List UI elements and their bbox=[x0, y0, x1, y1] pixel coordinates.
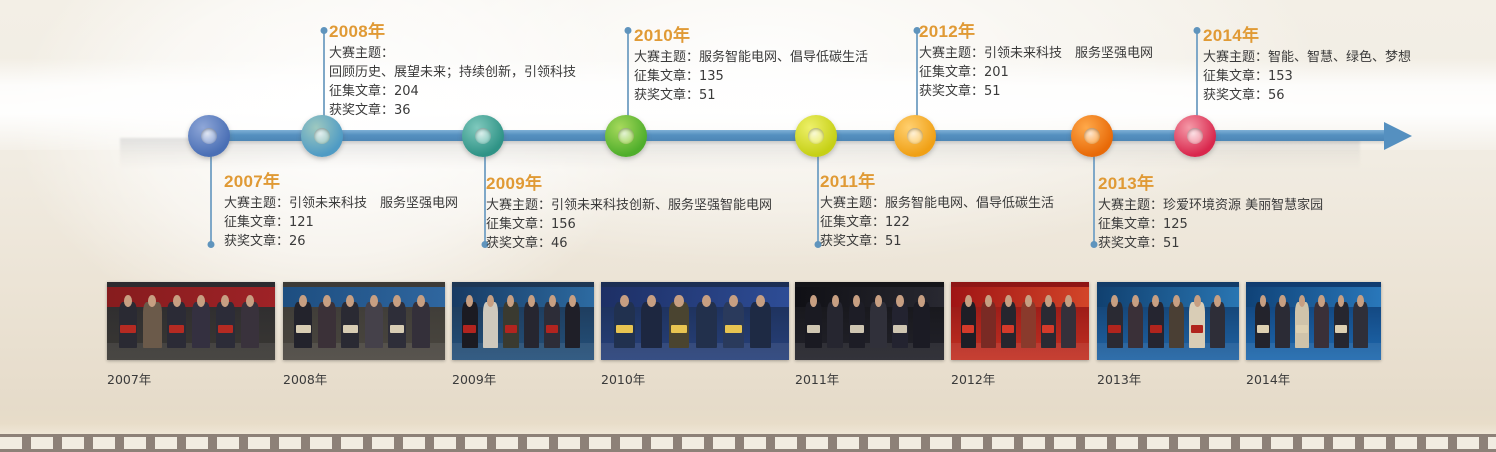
timeline-node-center bbox=[201, 128, 217, 144]
timeline-entry-2008: 2008年大赛主题：回顾历史、展望未来；持续创新，引领科技征集文章：204获奖文… bbox=[329, 22, 576, 120]
photo-caption: 2009年 bbox=[452, 369, 594, 388]
entry-awarded-count: 获奖文章：51 bbox=[1098, 234, 1323, 253]
photo-thumbnail[interactable] bbox=[107, 282, 275, 360]
entry-theme: 大赛主题：引领未来科技 服务坚强电网 bbox=[919, 44, 1153, 63]
entry-theme: 大赛主题：服务智能电网、倡导低碳生活 bbox=[820, 194, 1054, 213]
photo-thumbnail[interactable] bbox=[452, 282, 594, 360]
entry-submitted-count: 征集文章：135 bbox=[634, 67, 868, 86]
entry-theme: 回顾历史、展望未来；持续创新，引领科技 bbox=[329, 63, 576, 82]
photo-item[interactable]: 2013年 bbox=[1097, 282, 1239, 388]
photo-thumbnail[interactable] bbox=[601, 282, 789, 360]
photo-certificate bbox=[505, 325, 518, 334]
photo-certificate bbox=[218, 325, 233, 334]
photo-certificate bbox=[962, 325, 974, 334]
timeline-stem-dot bbox=[1091, 241, 1098, 248]
photo-item[interactable]: 2007年 bbox=[107, 282, 275, 388]
entry-theme: 大赛主题：服务智能电网、倡导低碳生活 bbox=[634, 48, 868, 67]
photo-person bbox=[192, 302, 210, 347]
photo-certificate bbox=[169, 325, 184, 334]
photo-person bbox=[241, 302, 259, 347]
timeline-node-2010[interactable] bbox=[605, 115, 647, 157]
photo-person bbox=[913, 302, 929, 347]
photo-person bbox=[1169, 302, 1185, 347]
photo-caption: 2013年 bbox=[1097, 369, 1239, 388]
photo-certificate bbox=[1296, 325, 1308, 334]
timeline-node-center bbox=[808, 128, 824, 144]
entry-submitted-count: 征集文章：153 bbox=[1203, 67, 1411, 86]
entry-submitted-count: 征集文章：122 bbox=[820, 213, 1054, 232]
photo-person bbox=[1275, 302, 1290, 347]
photo-certificate bbox=[616, 325, 633, 334]
photo-certificate bbox=[807, 325, 820, 334]
photo-caption: 2014年 bbox=[1246, 369, 1381, 388]
photo-person bbox=[1061, 302, 1076, 347]
entry-awarded-count: 获奖文章：56 bbox=[1203, 86, 1411, 105]
timeline-entry-2012: 2012年大赛主题：引领未来科技 服务坚强电网征集文章：201获奖文章：51 bbox=[919, 22, 1153, 101]
photo-person bbox=[412, 302, 430, 347]
entry-year: 2011年 bbox=[820, 172, 1054, 191]
entry-theme-prefix: 大赛主题： bbox=[329, 44, 576, 63]
photo-caption: 2011年 bbox=[795, 369, 944, 388]
filmstrip-holes bbox=[0, 437, 1496, 449]
entry-theme: 大赛主题：引领未来科技 服务坚强电网 bbox=[224, 194, 458, 213]
entry-submitted-count: 征集文章：156 bbox=[486, 215, 772, 234]
photo-certificate bbox=[296, 325, 311, 334]
timeline-node-2014[interactable] bbox=[1174, 115, 1216, 157]
entry-year: 2010年 bbox=[634, 26, 868, 45]
photo-caption: 2008年 bbox=[283, 369, 445, 388]
timeline-entry-2011: 2011年大赛主题：服务智能电网、倡导低碳生活征集文章：122获奖文章：51 bbox=[820, 172, 1054, 251]
photo-certificate bbox=[1108, 325, 1121, 334]
timeline-node-2012[interactable] bbox=[894, 115, 936, 157]
photo-person bbox=[143, 302, 161, 347]
photo-item[interactable]: 2014年 bbox=[1246, 282, 1381, 388]
photo-person bbox=[981, 302, 996, 347]
timeline-infographic: 2007年大赛主题：引领未来科技 服务坚强电网征集文章：121获奖文章：2620… bbox=[0, 0, 1496, 452]
timeline-stem-dot bbox=[208, 241, 215, 248]
timeline-arrow-icon bbox=[1384, 122, 1412, 150]
timeline-node-center bbox=[314, 128, 330, 144]
timeline-node-center bbox=[907, 128, 923, 144]
photo-person bbox=[870, 302, 886, 347]
photo-certificate bbox=[546, 325, 559, 334]
photo-certificate bbox=[1257, 325, 1269, 334]
entry-theme: 大赛主题：智能、智慧、绿色、梦想 bbox=[1203, 48, 1411, 67]
photo-gallery: 2007年2008年2009年2010年2011年2012年2013年2014年 bbox=[0, 282, 1496, 397]
photo-item[interactable]: 2010年 bbox=[601, 282, 789, 388]
photo-certificate bbox=[1150, 325, 1163, 334]
timeline-node-2008[interactable] bbox=[301, 115, 343, 157]
photo-person bbox=[483, 302, 499, 347]
photo-certificate bbox=[343, 325, 358, 334]
timeline-node-center bbox=[1084, 128, 1100, 144]
photo-person bbox=[750, 302, 771, 347]
entry-awarded-count: 获奖文章：36 bbox=[329, 101, 576, 120]
photo-person bbox=[1021, 302, 1036, 347]
photo-person bbox=[1128, 302, 1144, 347]
photo-caption: 2007年 bbox=[107, 369, 275, 388]
photo-certificate bbox=[1335, 325, 1347, 334]
photo-person bbox=[365, 302, 383, 347]
photo-thumbnail[interactable] bbox=[1246, 282, 1381, 360]
photo-certificate bbox=[463, 325, 476, 334]
timeline-stem-dot bbox=[625, 27, 632, 34]
photo-person bbox=[696, 302, 717, 347]
timeline-entry-2007: 2007年大赛主题：引领未来科技 服务坚强电网征集文章：121获奖文章：26 bbox=[224, 172, 458, 251]
photo-person bbox=[1353, 302, 1368, 347]
photo-person bbox=[318, 302, 336, 347]
timeline-entry-2013: 2013年大赛主题：珍爱环境资源 美丽智慧家园征集文章：125获奖文章：51 bbox=[1098, 174, 1323, 253]
photo-person bbox=[1210, 302, 1226, 347]
timeline-entry-2009: 2009年大赛主题：引领未来科技创新、服务坚强智能电网征集文章：156获奖文章：… bbox=[486, 174, 772, 253]
photo-person bbox=[524, 302, 540, 347]
timeline-stem-dot bbox=[321, 27, 328, 34]
timeline-node-2007[interactable] bbox=[188, 115, 230, 157]
entry-submitted-count: 征集文章：125 bbox=[1098, 215, 1323, 234]
photo-person bbox=[827, 302, 843, 347]
entry-year: 2008年 bbox=[329, 22, 576, 41]
entry-year: 2007年 bbox=[224, 172, 458, 191]
filmstrip-border bbox=[0, 434, 1496, 452]
timeline-node-center bbox=[1187, 128, 1203, 144]
entry-year: 2012年 bbox=[919, 22, 1153, 41]
entry-year: 2009年 bbox=[486, 174, 772, 193]
photo-thumbnail[interactable] bbox=[1097, 282, 1239, 360]
photo-certificate bbox=[1191, 325, 1204, 334]
photo-item[interactable]: 2012年 bbox=[951, 282, 1089, 388]
entry-awarded-count: 获奖文章：46 bbox=[486, 234, 772, 253]
entry-year: 2013年 bbox=[1098, 174, 1323, 193]
photo-person bbox=[1314, 302, 1329, 347]
timeline-node-2009[interactable] bbox=[462, 115, 504, 157]
photo-person bbox=[641, 302, 662, 347]
timeline-entry-2014: 2014年大赛主题：智能、智慧、绿色、梦想征集文章：153获奖文章：56 bbox=[1203, 26, 1411, 105]
photo-item[interactable]: 2009年 bbox=[452, 282, 594, 388]
entry-awarded-count: 获奖文章：51 bbox=[634, 86, 868, 105]
entry-awarded-count: 获奖文章：51 bbox=[820, 232, 1054, 251]
timeline-node-center bbox=[475, 128, 491, 144]
photo-certificate bbox=[725, 325, 742, 334]
entry-submitted-count: 征集文章：121 bbox=[224, 213, 458, 232]
timeline-stem-dot bbox=[1194, 27, 1201, 34]
photo-certificate bbox=[120, 325, 135, 334]
photo-thumbnail[interactable] bbox=[795, 282, 944, 360]
photo-certificate bbox=[893, 325, 906, 334]
photo-caption: 2012年 bbox=[951, 369, 1089, 388]
photo-certificate bbox=[671, 325, 688, 334]
entry-awarded-count: 获奖文章：51 bbox=[919, 82, 1153, 101]
photo-certificate bbox=[1042, 325, 1054, 334]
timeline-node-center bbox=[618, 128, 634, 144]
photo-item[interactable]: 2008年 bbox=[283, 282, 445, 388]
photo-certificate bbox=[390, 325, 405, 334]
entry-awarded-count: 获奖文章：26 bbox=[224, 232, 458, 251]
timeline-entry-2010: 2010年大赛主题：服务智能电网、倡导低碳生活征集文章：135获奖文章：51 bbox=[634, 26, 868, 105]
entry-year: 2014年 bbox=[1203, 26, 1411, 45]
photo-thumbnail[interactable] bbox=[283, 282, 445, 360]
photo-item[interactable]: 2011年 bbox=[795, 282, 944, 388]
photo-certificate bbox=[1002, 325, 1014, 334]
photo-certificate bbox=[850, 325, 863, 334]
timeline-node-2011[interactable] bbox=[795, 115, 837, 157]
entry-submitted-count: 征集文章：201 bbox=[919, 63, 1153, 82]
photo-thumbnail[interactable] bbox=[951, 282, 1089, 360]
photo-person bbox=[565, 302, 581, 347]
entry-theme: 大赛主题：珍爱环境资源 美丽智慧家园 bbox=[1098, 196, 1323, 215]
bottom-fade bbox=[0, 408, 1496, 434]
entry-submitted-count: 征集文章：204 bbox=[329, 82, 576, 101]
entry-theme: 大赛主题：引领未来科技创新、服务坚强智能电网 bbox=[486, 196, 772, 215]
timeline-node-2013[interactable] bbox=[1071, 115, 1113, 157]
photo-caption: 2010年 bbox=[601, 369, 789, 388]
